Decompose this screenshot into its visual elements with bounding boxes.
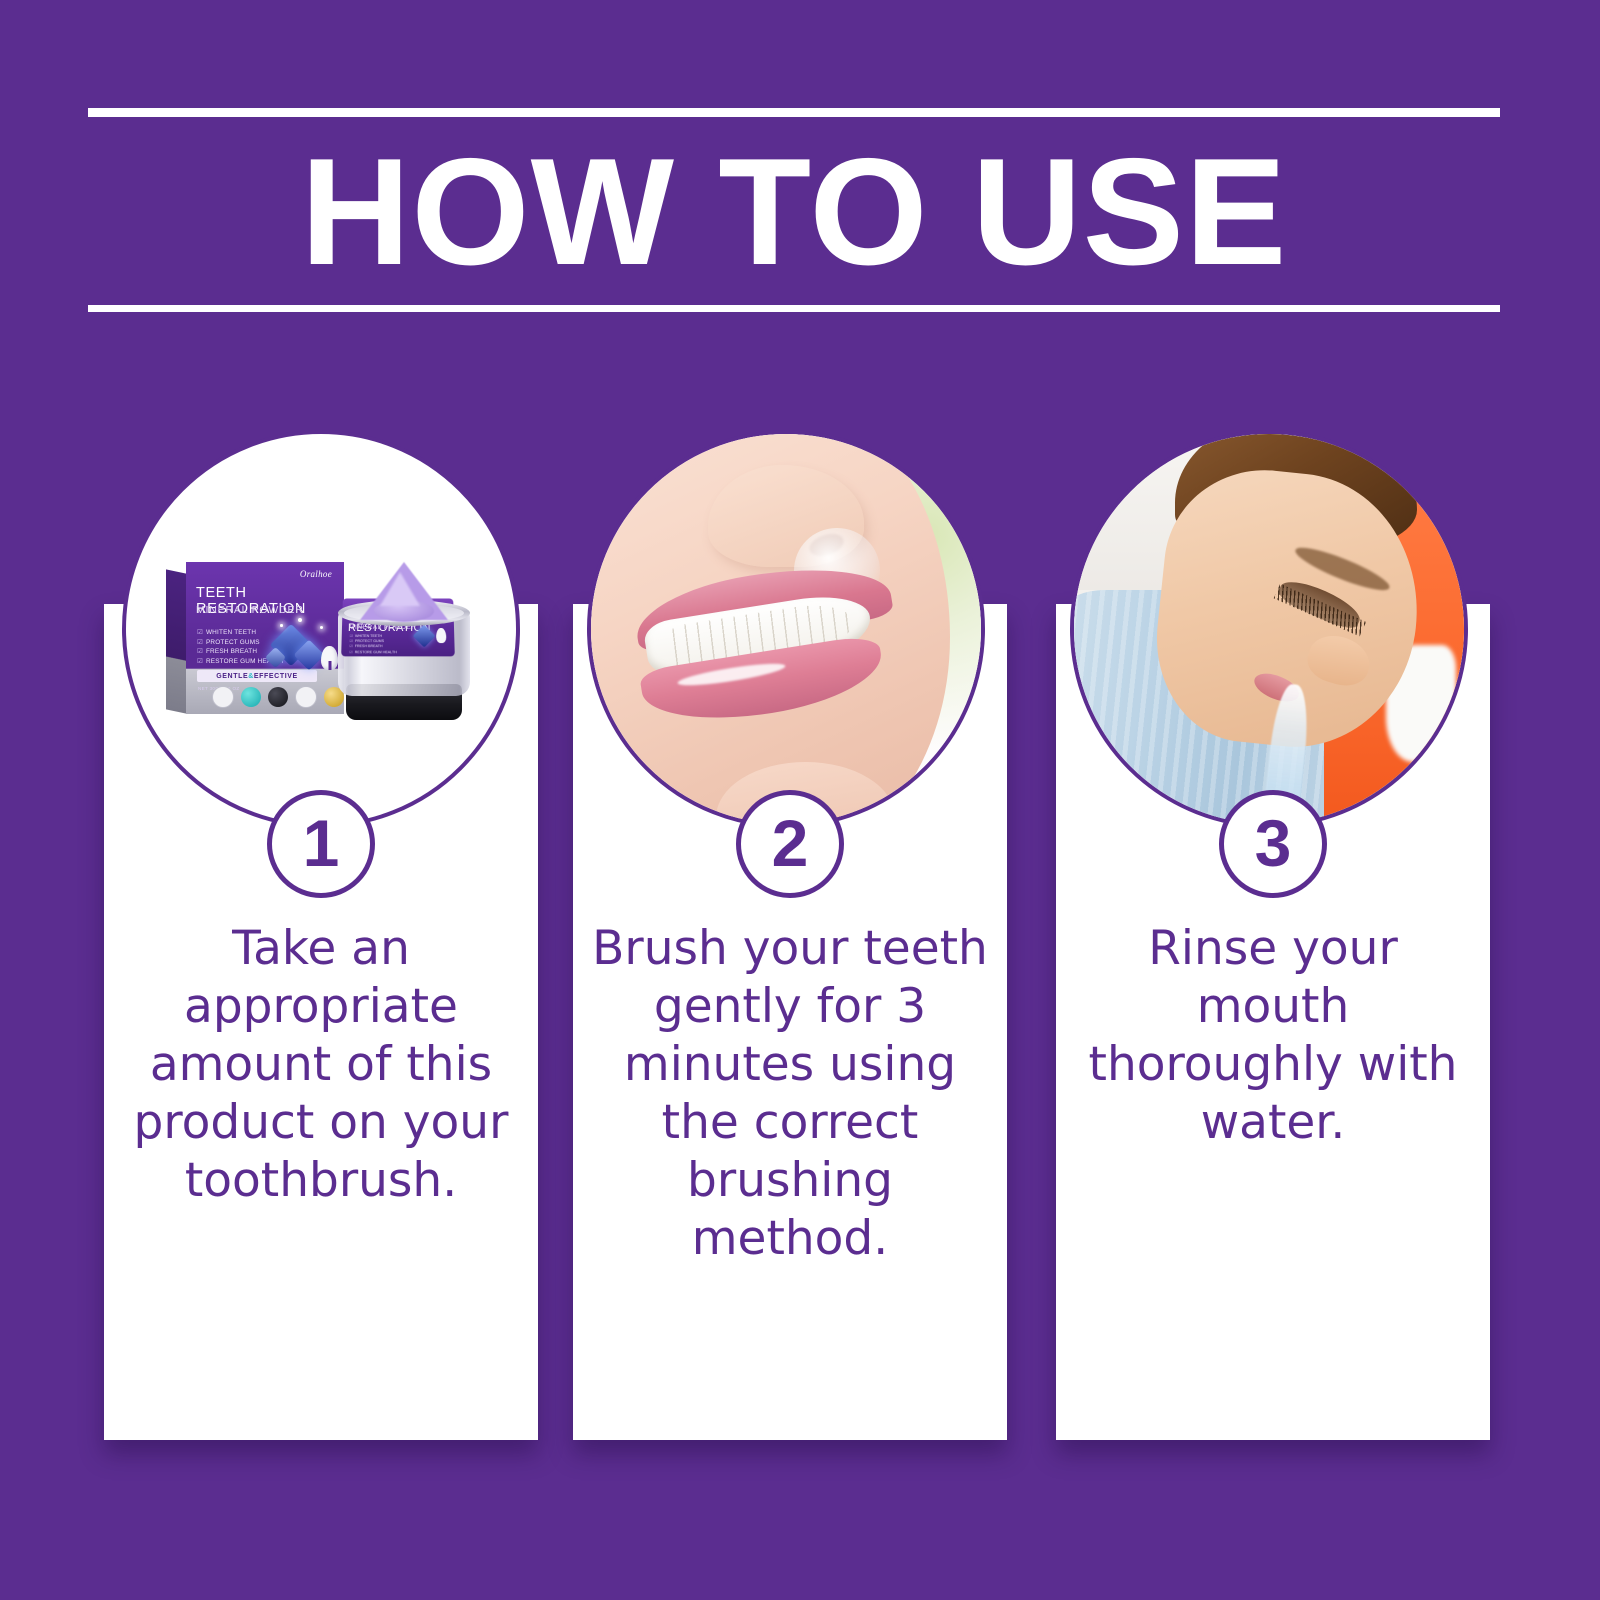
- jar-benefit-list: WHITEN TEETH PROTECT GUMS FRESH BREATH R…: [349, 634, 397, 655]
- jar-tooth-icon: [436, 628, 446, 643]
- step-card-1: Oralhoe TEETH RESTORATION MINERAL POWDER…: [104, 430, 538, 1490]
- step-number-badge-2: 2: [736, 790, 844, 898]
- step-3-image-circle: [1070, 430, 1468, 828]
- rinse-photo: [1074, 434, 1464, 824]
- tagline-text-1: GENTLE: [216, 673, 248, 680]
- step-number-label: 2: [772, 810, 809, 876]
- product-artwork: Oralhoe TEETH RESTORATION MINERAL POWDER…: [166, 552, 484, 722]
- step-number-badge-1: 1: [267, 790, 375, 898]
- product-photo: Oralhoe TEETH RESTORATION MINERAL POWDER…: [126, 434, 516, 824]
- sparkle-icon: [298, 618, 302, 622]
- step-caption-1: Take an appropriate amount of this produ…: [122, 920, 520, 1210]
- jar-benefit-item: RESTORE GUM HEALTH: [349, 650, 397, 655]
- box-front-panel: Oralhoe TEETH RESTORATION MINERAL POWDER…: [186, 562, 344, 714]
- product-jar: Oralhoe TEETH RESTORATION MINERAL POWDER…: [332, 578, 482, 720]
- certification-badge-icon: [295, 686, 317, 708]
- certification-badge-icon: [241, 687, 261, 707]
- step-2-image-circle: [587, 430, 985, 828]
- header-rule-bottom: [88, 305, 1500, 312]
- sparkle-icon: [320, 626, 323, 629]
- step-number-label: 1: [303, 810, 340, 876]
- step-caption-2: Brush your teeth gently for 3 minutes us…: [591, 920, 989, 1268]
- step-1-image-circle: Oralhoe TEETH RESTORATION MINERAL POWDER…: [122, 430, 520, 828]
- page-title: HOW TO USE: [88, 117, 1500, 305]
- box-side-panel: [166, 569, 188, 714]
- step-card-3: 3 Rinse your mouth thoroughly with water…: [1056, 430, 1490, 1490]
- step-card-2: 2 Brush your teeth gently for 3 minutes …: [573, 430, 1007, 1490]
- certification-badge-icon: [268, 687, 288, 707]
- sparkle-icon: [280, 624, 283, 627]
- step-number-label: 3: [1255, 810, 1292, 876]
- product-box: Oralhoe TEETH RESTORATION MINERAL POWDER…: [166, 562, 344, 714]
- steps-container: Oralhoe TEETH RESTORATION MINERAL POWDER…: [0, 430, 1600, 1510]
- header-rule-top: [88, 108, 1500, 117]
- mineral-powder-highlight: [380, 572, 420, 606]
- header: HOW TO USE: [88, 108, 1500, 312]
- step-caption-3: Rinse your mouth thoroughly with water.: [1074, 920, 1472, 1152]
- certification-badges: [212, 686, 344, 708]
- crystal-graphic: [264, 612, 340, 674]
- product-brand-label: Oralhoe: [300, 569, 332, 579]
- smile-photo: [591, 434, 981, 824]
- step-number-badge-3: 3: [1219, 790, 1327, 898]
- certification-badge-icon: [212, 686, 234, 708]
